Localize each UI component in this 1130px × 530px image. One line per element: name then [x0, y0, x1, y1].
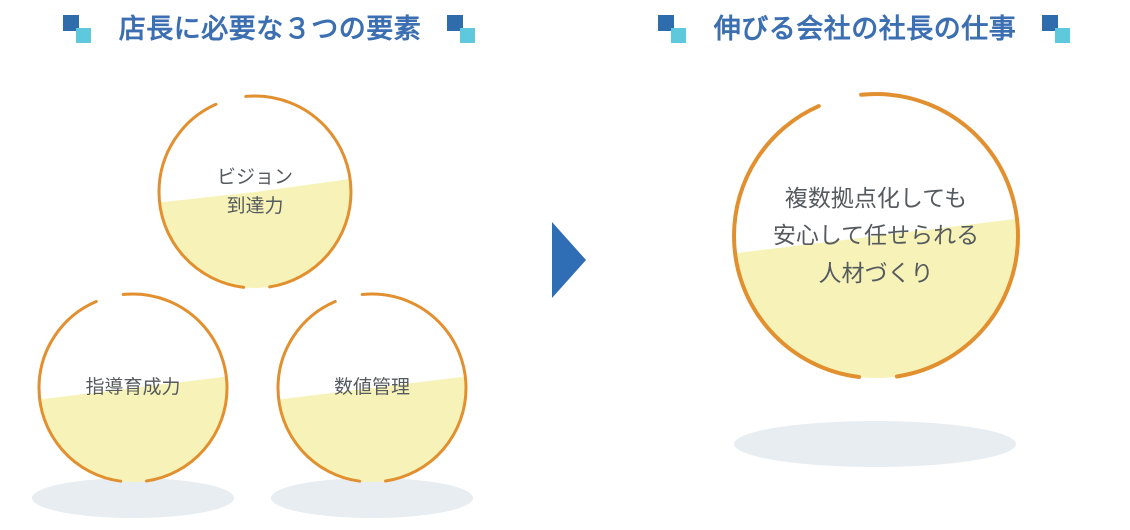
left-panel: 店長に必要な３つの要素 ビジョン 到達力 [0, 0, 540, 530]
bubble-shadow-talent [734, 421, 1016, 467]
two-squares-mark-icon [447, 15, 477, 43]
square-light [76, 28, 91, 43]
square-light [460, 28, 475, 43]
two-squares-mark-icon [1042, 15, 1072, 43]
left-heading-row: 店長に必要な３つの要素 [0, 6, 540, 52]
two-squares-mark-icon [63, 15, 93, 43]
right-panel: 伸びる会社の社長の仕事 複数拠点化しても 安心して任せられる 人材づくり [600, 0, 1130, 530]
two-squares-mark-icon [658, 15, 688, 43]
square-light [671, 28, 686, 43]
square-light [1055, 28, 1070, 43]
bubble-fill [709, 95, 1051, 437]
bubble-numbers: 数値管理 [272, 288, 472, 488]
bubble-talent: 複数拠点化しても 安心して任せられる 人材づくり [730, 90, 1022, 382]
right-arrow-icon [549, 220, 589, 300]
bubble-fill [262, 295, 487, 520]
bubble-fill [23, 295, 248, 520]
left-panel-title: 店長に必要な３つの要素 [119, 16, 422, 43]
bubble-coaching: 指導育成力 [33, 288, 233, 488]
right-heading-row: 伸びる会社の社長の仕事 [600, 6, 1130, 52]
right-panel-title: 伸びる会社の社長の仕事 [714, 16, 1017, 43]
bubble-vision: ビジョン 到達力 [153, 90, 357, 294]
